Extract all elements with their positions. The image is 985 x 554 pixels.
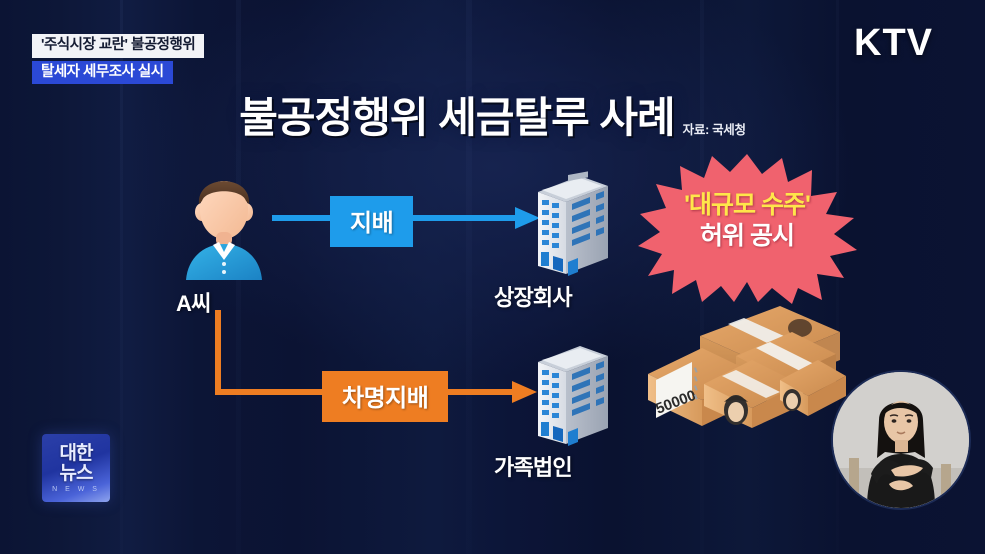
broadcast-screen: '주식시장 교란' 불공정행위 탈세자 세무조사 실시 KTV 불공정행위 세금… — [0, 0, 985, 554]
node-label-family-corp: 가족법인 — [494, 450, 648, 482]
station-logo-line-3: N E W S — [52, 486, 100, 493]
sign-language-interpreter-inset — [833, 372, 969, 508]
station-logo-line-2: 뉴스 — [60, 464, 93, 483]
station-logo-line-1: 대한 — [60, 444, 93, 463]
station-logo-daehan-news: 대한 뉴스 N E W S — [42, 434, 110, 502]
person-icon — [176, 168, 272, 280]
office-building-icon — [528, 340, 614, 450]
banner-headline-secondary: 탈세자 세무조사 실시 — [32, 61, 173, 85]
starburst-shape — [636, 152, 858, 304]
node-label-person: A씨 — [176, 286, 272, 318]
callout-starburst: '대규모 수주' 허위 공시 — [636, 152, 858, 304]
banner-headline-primary: '주식시장 교란' 불공정행위 — [32, 34, 204, 58]
headline-block: 불공정행위 세금탈루 사례 자료: 국세청 — [0, 84, 985, 145]
lower-third-banner: '주식시장 교란' 불공정행위 탈세자 세무조사 실시 — [32, 34, 204, 84]
office-building-icon — [528, 170, 614, 280]
edge-label-nominee: 차명지배 — [322, 371, 448, 422]
channel-logo-ktv: KTV — [854, 22, 933, 65]
money-bundles-icon: 50000 — [640, 288, 850, 428]
source-credit: 자료: 국세청 — [683, 119, 746, 138]
page-title: 불공정행위 세금탈루 사례 — [239, 84, 674, 145]
edge-label-control: 지배 — [330, 196, 413, 247]
node-label-listed-company: 상장회사 — [494, 280, 648, 312]
interpreter-figure — [833, 372, 969, 508]
